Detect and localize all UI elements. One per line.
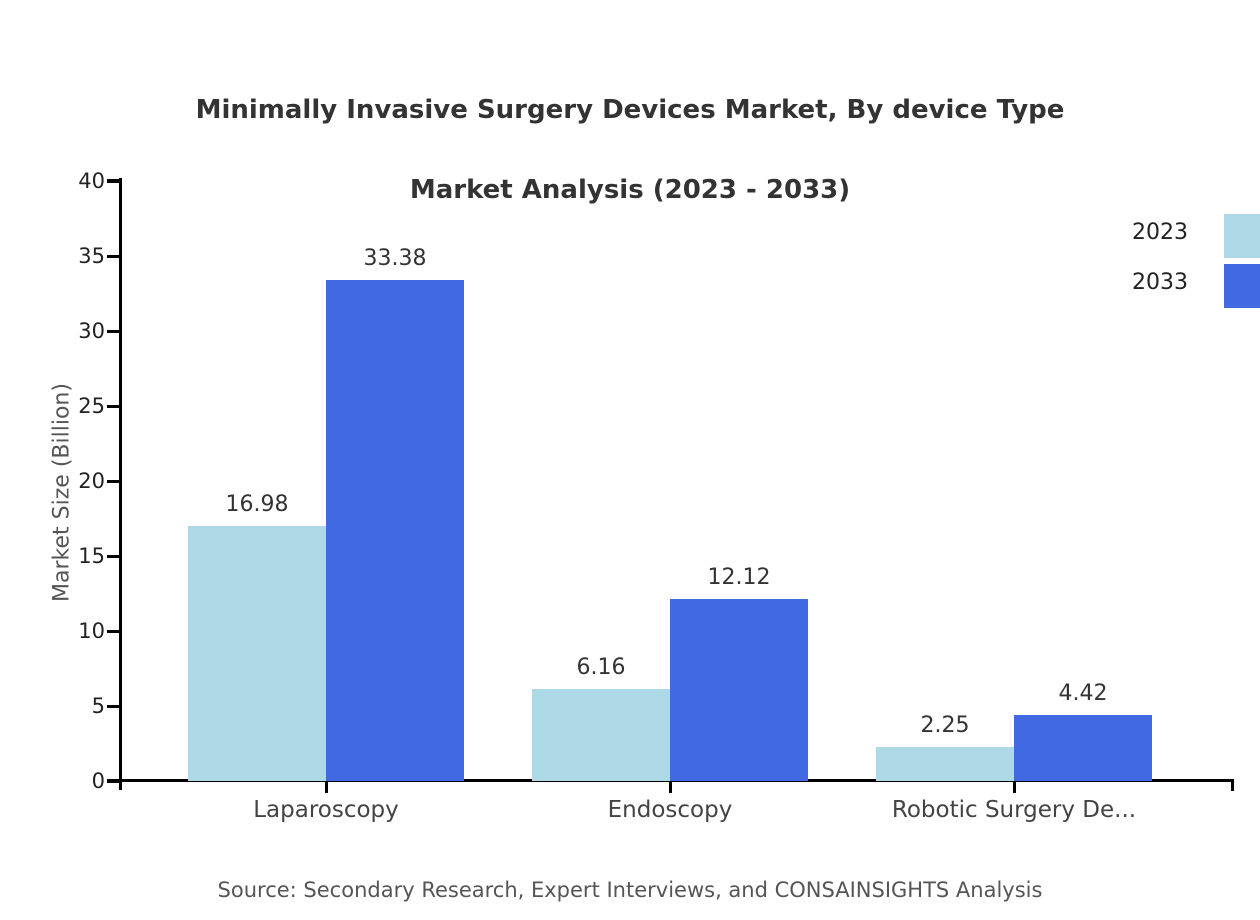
y-axis-tick-mark	[107, 555, 121, 558]
legend-color-swatch	[1224, 264, 1260, 308]
bar-2023-robotic-surgery-de-[interactable]	[876, 747, 1014, 781]
y-axis-tick-label: 25	[45, 396, 105, 417]
bar-value-label: 4.42	[1013, 683, 1153, 705]
y-axis-tick-label: 0	[45, 771, 105, 792]
y-axis-tick-mark	[107, 180, 121, 183]
bar-2033-endoscopy[interactable]	[670, 599, 808, 781]
y-axis-tick-label: 30	[45, 321, 105, 342]
chart-title-line-1: Minimally Invasive Surgery Devices Marke…	[0, 90, 1260, 130]
y-axis-tick-mark	[107, 255, 121, 258]
y-axis-tick-mark	[107, 630, 121, 633]
legend-item-label: 2033	[1132, 270, 1188, 295]
legend-item-2023[interactable]: 2023	[1110, 214, 1260, 264]
y-axis-tick-mark	[107, 780, 121, 783]
source-note: Source: Secondary Research, Expert Inter…	[0, 878, 1260, 902]
x-axis-tick-mark	[325, 781, 328, 793]
bar-value-label: 2.25	[875, 715, 1015, 737]
bar-value-label: 12.12	[669, 567, 809, 589]
x-axis-category-label: Robotic Surgery De...	[842, 793, 1186, 827]
bar-value-label: 33.38	[325, 248, 465, 270]
chart-legend: 20232033	[1110, 214, 1260, 314]
y-axis-tick-label: 15	[45, 546, 105, 567]
bar-2033-robotic-surgery-de-[interactable]	[1014, 715, 1152, 781]
x-axis-tick-mark	[669, 781, 672, 793]
bar-value-label: 6.16	[531, 657, 671, 679]
x-axis-tick-mark	[1013, 781, 1016, 793]
y-axis-tick-label: 5	[45, 696, 105, 717]
legend-item-label: 2023	[1132, 220, 1188, 245]
y-axis-tick-mark	[107, 405, 121, 408]
y-axis-tick-label: 35	[45, 246, 105, 267]
bar-value-label: 16.98	[187, 494, 327, 516]
y-axis-tick-label: 20	[45, 471, 105, 492]
legend-color-swatch	[1224, 214, 1260, 258]
y-axis-tick-mark	[107, 705, 121, 708]
bar-2033-laparoscopy[interactable]	[326, 280, 464, 781]
x-axis-category-label: Laparoscopy	[154, 793, 498, 827]
bar-2023-laparoscopy[interactable]	[188, 526, 326, 781]
x-axis-category-label: Endoscopy	[498, 793, 842, 827]
y-axis-tick-label: 40	[45, 171, 105, 192]
bar-2023-endoscopy[interactable]	[532, 689, 670, 781]
y-axis-tick-mark	[107, 480, 121, 483]
legend-item-2033[interactable]: 2033	[1110, 264, 1260, 314]
plot-area: 16.986.162.2533.3812.124.42	[121, 181, 1234, 781]
y-axis-tick-mark	[107, 330, 121, 333]
y-axis-tick-label: 10	[45, 621, 105, 642]
